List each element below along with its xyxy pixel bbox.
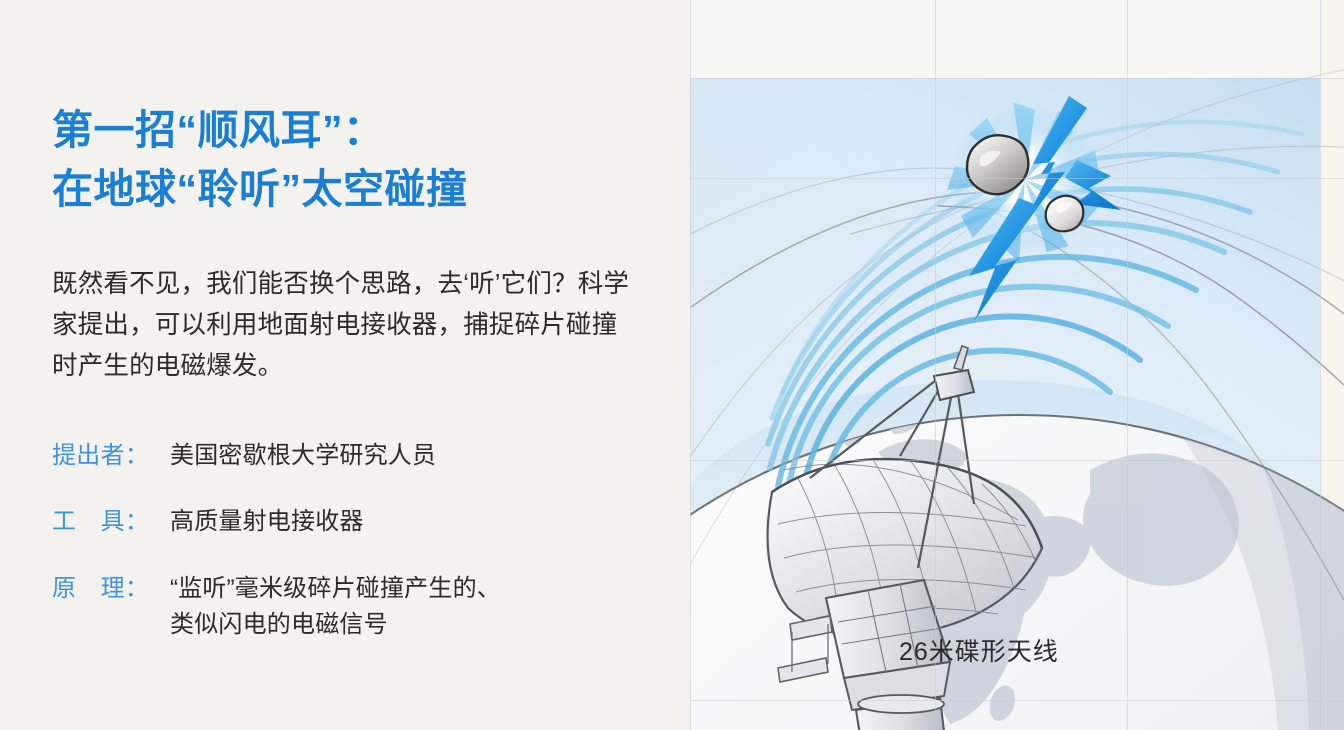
spec-label-proposer: 提出者：	[52, 438, 170, 474]
spec-value-principle: “监听”毫米级碎片碰撞产生的、 类似闪电的电磁信号	[170, 571, 652, 644]
spec-row-principle: 原 理： “监听”毫米级碎片碰撞产生的、 类似闪电的电磁信号	[52, 571, 652, 644]
spec-label-tool: 工 具：	[52, 504, 170, 540]
spec-label-principle: 原 理：	[52, 571, 170, 607]
intro-paragraph: 既然看不见，我们能否换个思路，去‘听’它们？科学家提出，可以利用地面射电接收器，…	[52, 264, 632, 388]
page-title-line-1: 第一招“顺风耳”：	[52, 101, 652, 159]
spec-row-tool: 工 具： 高质量射电接收器	[52, 504, 652, 540]
spec-row-proposer: 提出者： 美国密歇根大学研究人员	[52, 438, 652, 474]
text-column: 第一招“顺风耳”： 在地球“聆听”太空碰撞 既然看不见，我们能否换个思路，去‘听…	[0, 0, 690, 730]
spec-value-proposer: 美国密歇根大学研究人员	[170, 438, 652, 474]
page-title-line-2: 在地球“聆听”太空碰撞	[52, 160, 652, 218]
spec-value-proposer-line-1: 美国密歇根大学研究人员	[170, 438, 652, 474]
spec-value-principle-line-2: 类似闪电的电磁信号	[170, 607, 652, 643]
spec-value-tool: 高质量射电接收器	[170, 504, 652, 540]
spec-value-principle-line-1: “监听”毫米级碎片碰撞产生的、	[170, 571, 652, 607]
debris-fragment-large	[967, 135, 1028, 194]
spec-list: 提出者： 美国密歇根大学研究人员 工 具： 高质量射电接收器 原 理： “监听”…	[52, 438, 652, 644]
slide-root: 第一招“顺风耳”： 在地球“聆听”太空碰撞 既然看不见，我们能否换个思路，去‘听…	[0, 0, 1344, 730]
antenna-caption: 26米碟形天线	[899, 632, 1059, 668]
page-title: 第一招“顺风耳”： 在地球“聆听”太空碰撞	[52, 101, 652, 217]
spec-value-tool-line-1: 高质量射电接收器	[170, 504, 652, 540]
debris-fragment-small	[1046, 196, 1084, 232]
illustration-panel: 26米碟形天线	[690, 0, 1344, 730]
illustration-svg	[690, 0, 1344, 730]
